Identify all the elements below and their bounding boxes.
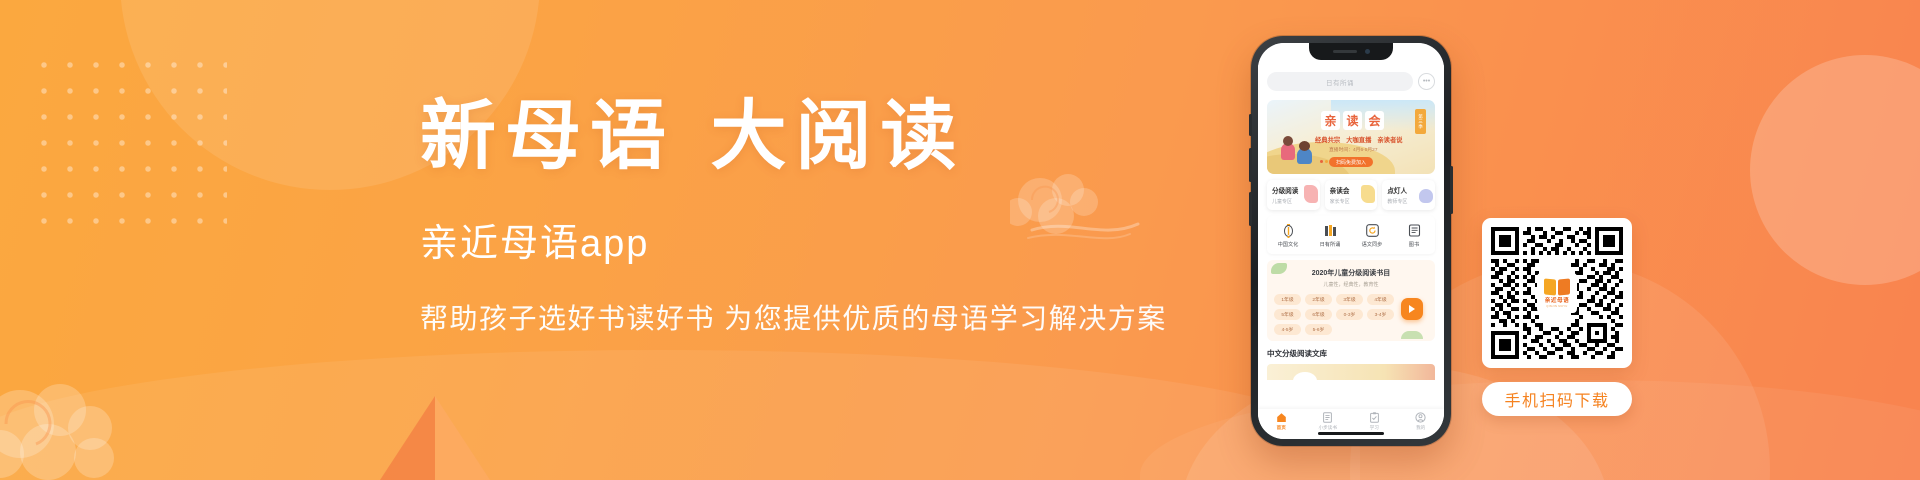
person-shape-icon [1419, 189, 1433, 203]
banner-headline: 新母语 大阅读 [420, 96, 1180, 176]
category-card[interactable]: 分级阅读 儿童专区 [1267, 180, 1320, 210]
qr-center-logo: 亲近母语 QINJIN MUYU [1537, 273, 1577, 313]
app-search-row: 日有所诵 ••• [1258, 65, 1444, 99]
tab-profile[interactable]: 我的 [1398, 412, 1445, 431]
phone-notch [1309, 43, 1393, 60]
qr-code[interactable]: 亲近母语 QINJIN MUYU [1491, 227, 1623, 359]
search-input[interactable]: 日有所诵 [1267, 72, 1413, 91]
grade-chip[interactable]: 4年级 [1367, 294, 1394, 305]
grade-chip[interactable]: 3年级 [1336, 294, 1363, 305]
app-screen-body: 日有所诵 ••• 亲 读 会 [1258, 43, 1444, 439]
books-icon [1323, 223, 1338, 238]
home-indicator [1318, 432, 1384, 435]
booklist-card[interactable]: 2020年儿童分级阅读书目 儿童性，经典性，教育性 1年级 2年级 3年级 4年… [1267, 260, 1435, 341]
lantern-icon [1281, 223, 1296, 238]
category-card[interactable]: 亲读会 家长专区 [1325, 180, 1378, 210]
download-button-label: 手机扫码下载 [1504, 387, 1609, 411]
age-chip[interactable]: 5-6岁 [1305, 324, 1332, 335]
quick-icon-label: 日有所诵 [1320, 241, 1341, 248]
search-placeholder: 日有所诵 [1326, 77, 1354, 87]
decor-dot-grid [27, 48, 227, 228]
book-icon [1407, 223, 1422, 238]
leaf-decor-icon [1401, 331, 1423, 339]
book-shape-icon [1304, 185, 1318, 203]
clipboard-icon [1369, 412, 1380, 423]
library-cover-strip[interactable] [1267, 364, 1435, 380]
hero-sub-item: 亲读者说 [1377, 135, 1402, 144]
phone-power-button [1450, 166, 1453, 214]
hero-sub-item: 经典共宗 [1315, 135, 1340, 144]
banner-tagline: 帮助孩子选好书读好书 为您提供优质的母语学习解决方案 [420, 297, 1180, 337]
grade-chip[interactable]: 2年级 [1305, 294, 1332, 305]
age-chip[interactable]: 4-5岁 [1274, 324, 1301, 335]
library-title: 中文分级阅读文库 [1267, 348, 1435, 359]
quick-icon-label: 图书 [1409, 241, 1419, 248]
hero-sub-item: 大咖直播 [1346, 135, 1371, 144]
banner-copy: 新母语 大阅读 亲近母语app 帮助孩子选好书读好书 为您提供优质的母语学习解决… [420, 96, 1180, 337]
tab-label: 我的 [1416, 425, 1425, 431]
tab-home[interactable]: 首页 [1258, 412, 1305, 431]
booklist-title: 2020年儿童分级阅读书目 [1274, 268, 1428, 278]
quick-icon-label: 中国文化 [1278, 241, 1299, 248]
phone-volume-down-button [1249, 192, 1252, 226]
age-chip[interactable]: 0-3岁 [1336, 309, 1363, 320]
age-chip[interactable]: 3-4岁 [1367, 309, 1394, 320]
decor-hill-left [0, 350, 1360, 480]
grade-chip[interactable]: 5年级 [1274, 309, 1301, 320]
phone-silent-switch [1249, 114, 1252, 136]
app-hero-banner[interactable]: 亲 读 会 第三季 经典共宗 大咖直播 亲读者说 直播时间：4月6-5月27 扫… [1267, 100, 1435, 174]
grade-chip[interactable]: 6年级 [1305, 309, 1332, 320]
grade-chip[interactable]: 1年级 [1274, 294, 1301, 305]
quick-icon-item[interactable]: 图书 [1393, 223, 1435, 248]
hero-ribbon: 第三季 [1415, 109, 1426, 134]
phone-mockup: 日有所诵 ••• 亲 读 会 [1251, 36, 1451, 446]
download-button[interactable]: 手机扫码下载 [1482, 382, 1632, 416]
user-icon [1415, 412, 1426, 423]
refresh-icon [1365, 223, 1380, 238]
home-icon [1276, 412, 1287, 423]
phone-screen: 日有所诵 ••• 亲 读 会 [1258, 43, 1444, 439]
message-icon[interactable]: ••• [1418, 73, 1435, 90]
qr-logo-pinyin: QINJIN MUYU [1546, 305, 1567, 308]
list-icon [1322, 412, 1333, 423]
hero-date: 直播时间：4月6-5月27 [1329, 146, 1378, 153]
category-card[interactable]: 点灯人 教师专区 [1382, 180, 1435, 210]
quick-icon-grid: 中国文化 日有所诵 [1267, 216, 1435, 254]
qr-block: 亲近母语 QINJIN MUYU 手机扫码下载 [1482, 218, 1632, 416]
speaker-icon [1333, 50, 1357, 53]
promo-banner: 新母语 大阅读 亲近母语app 帮助孩子选好书读好书 为您提供优质的母语学习解决… [0, 0, 1920, 480]
hero-kid-right-icon [1297, 148, 1312, 164]
quick-icon-item[interactable]: 日有所诵 [1309, 223, 1351, 248]
library-section: 中文分级阅读文库 [1258, 341, 1444, 380]
decor-cube [380, 396, 490, 480]
banner-subtitle: 亲近母语app [420, 212, 1180, 267]
book-shape-icon [1361, 185, 1375, 203]
decor-circle-top-right [1750, 55, 1920, 285]
qr-card: 亲近母语 QINJIN MUYU [1482, 218, 1632, 368]
video-play-icon[interactable] [1401, 298, 1423, 320]
tab-label: 小步读书 [1319, 425, 1337, 431]
tab-study[interactable]: 学习 [1351, 412, 1398, 431]
hero-cta-button[interactable]: 扫码免费加入 [1329, 157, 1373, 167]
decor-cloud-bottom-left [0, 366, 170, 480]
quick-icon-item[interactable]: 语文同步 [1351, 223, 1393, 248]
quick-icon-item[interactable]: 中国文化 [1267, 223, 1309, 248]
hero-kid-left-icon [1281, 143, 1295, 160]
tab-reading-group[interactable]: 小步读书 [1305, 412, 1352, 431]
grade-chip-group: 1年级 2年级 3年级 4年级 5年级 6年级 0-3岁 3-4岁 4-5岁 5… [1274, 294, 1394, 335]
book-logo-icon [1544, 279, 1570, 295]
hero-title-char: 读 [1343, 111, 1362, 130]
hero-title-char: 亲 [1321, 111, 1340, 130]
qr-logo-name: 亲近母语 [1545, 296, 1569, 304]
quick-icon-label: 语文同步 [1362, 241, 1383, 248]
hero-title: 亲 读 会 [1321, 111, 1384, 130]
category-cards: 分级阅读 儿童专区 亲读会 家长专区 点灯人 教师专区 [1258, 174, 1444, 210]
front-camera-icon [1365, 49, 1370, 54]
hero-title-char: 会 [1365, 111, 1384, 130]
phone-volume-up-button [1249, 148, 1252, 182]
tab-label: 学习 [1370, 425, 1379, 431]
booklist-subtitle: 儿童性，经典性，教育性 [1274, 281, 1428, 288]
tab-label: 首页 [1277, 425, 1286, 431]
hero-subtitle: 经典共宗 大咖直播 亲读者说 [1315, 135, 1403, 144]
